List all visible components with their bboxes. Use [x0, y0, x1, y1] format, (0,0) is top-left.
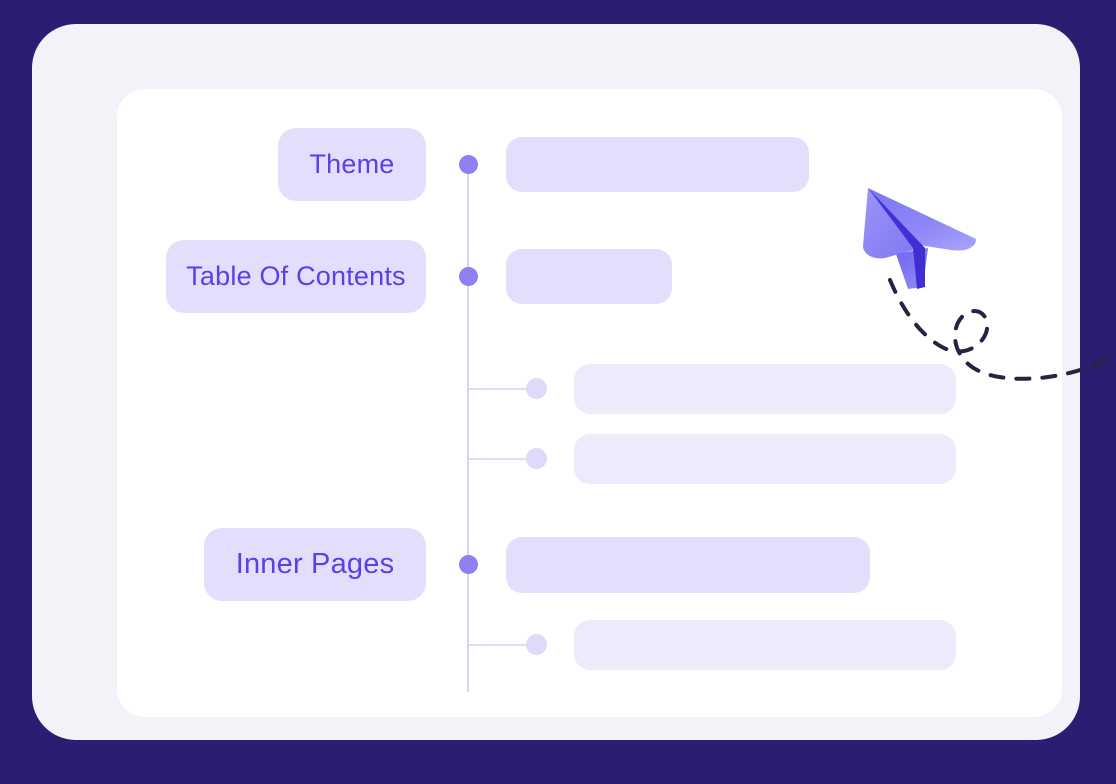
timeline-dot-sub-item-1[interactable]	[526, 378, 547, 399]
timeline-dot-inner-pages[interactable]	[459, 555, 478, 574]
content-bar-sub-item-2[interactable]	[574, 434, 956, 484]
timeline-dot-theme[interactable]	[459, 155, 478, 174]
paper-plane-icon	[855, 182, 980, 292]
outer-card: Theme Table Of Contents Inner Pages	[32, 24, 1080, 740]
timeline-label-inner-pages[interactable]: Inner Pages	[204, 528, 426, 601]
content-bar-inner-pages[interactable]	[506, 537, 870, 593]
content-bar-sub-item-3[interactable]	[574, 620, 956, 670]
timeline-label-table-of-contents[interactable]: Table Of Contents	[166, 240, 426, 313]
screenshot-root: Theme Table Of Contents Inner Pages	[0, 0, 1116, 784]
content-bar-table-of-contents[interactable]	[506, 249, 672, 304]
timeline-label-theme[interactable]: Theme	[278, 128, 426, 201]
timeline-axis	[467, 164, 469, 692]
timeline-dot-sub-item-3[interactable]	[526, 634, 547, 655]
timeline-dot-table-of-contents[interactable]	[459, 267, 478, 286]
content-bar-theme[interactable]	[506, 137, 809, 192]
timeline-dot-sub-item-2[interactable]	[526, 448, 547, 469]
content-bar-sub-item-1[interactable]	[574, 364, 956, 414]
